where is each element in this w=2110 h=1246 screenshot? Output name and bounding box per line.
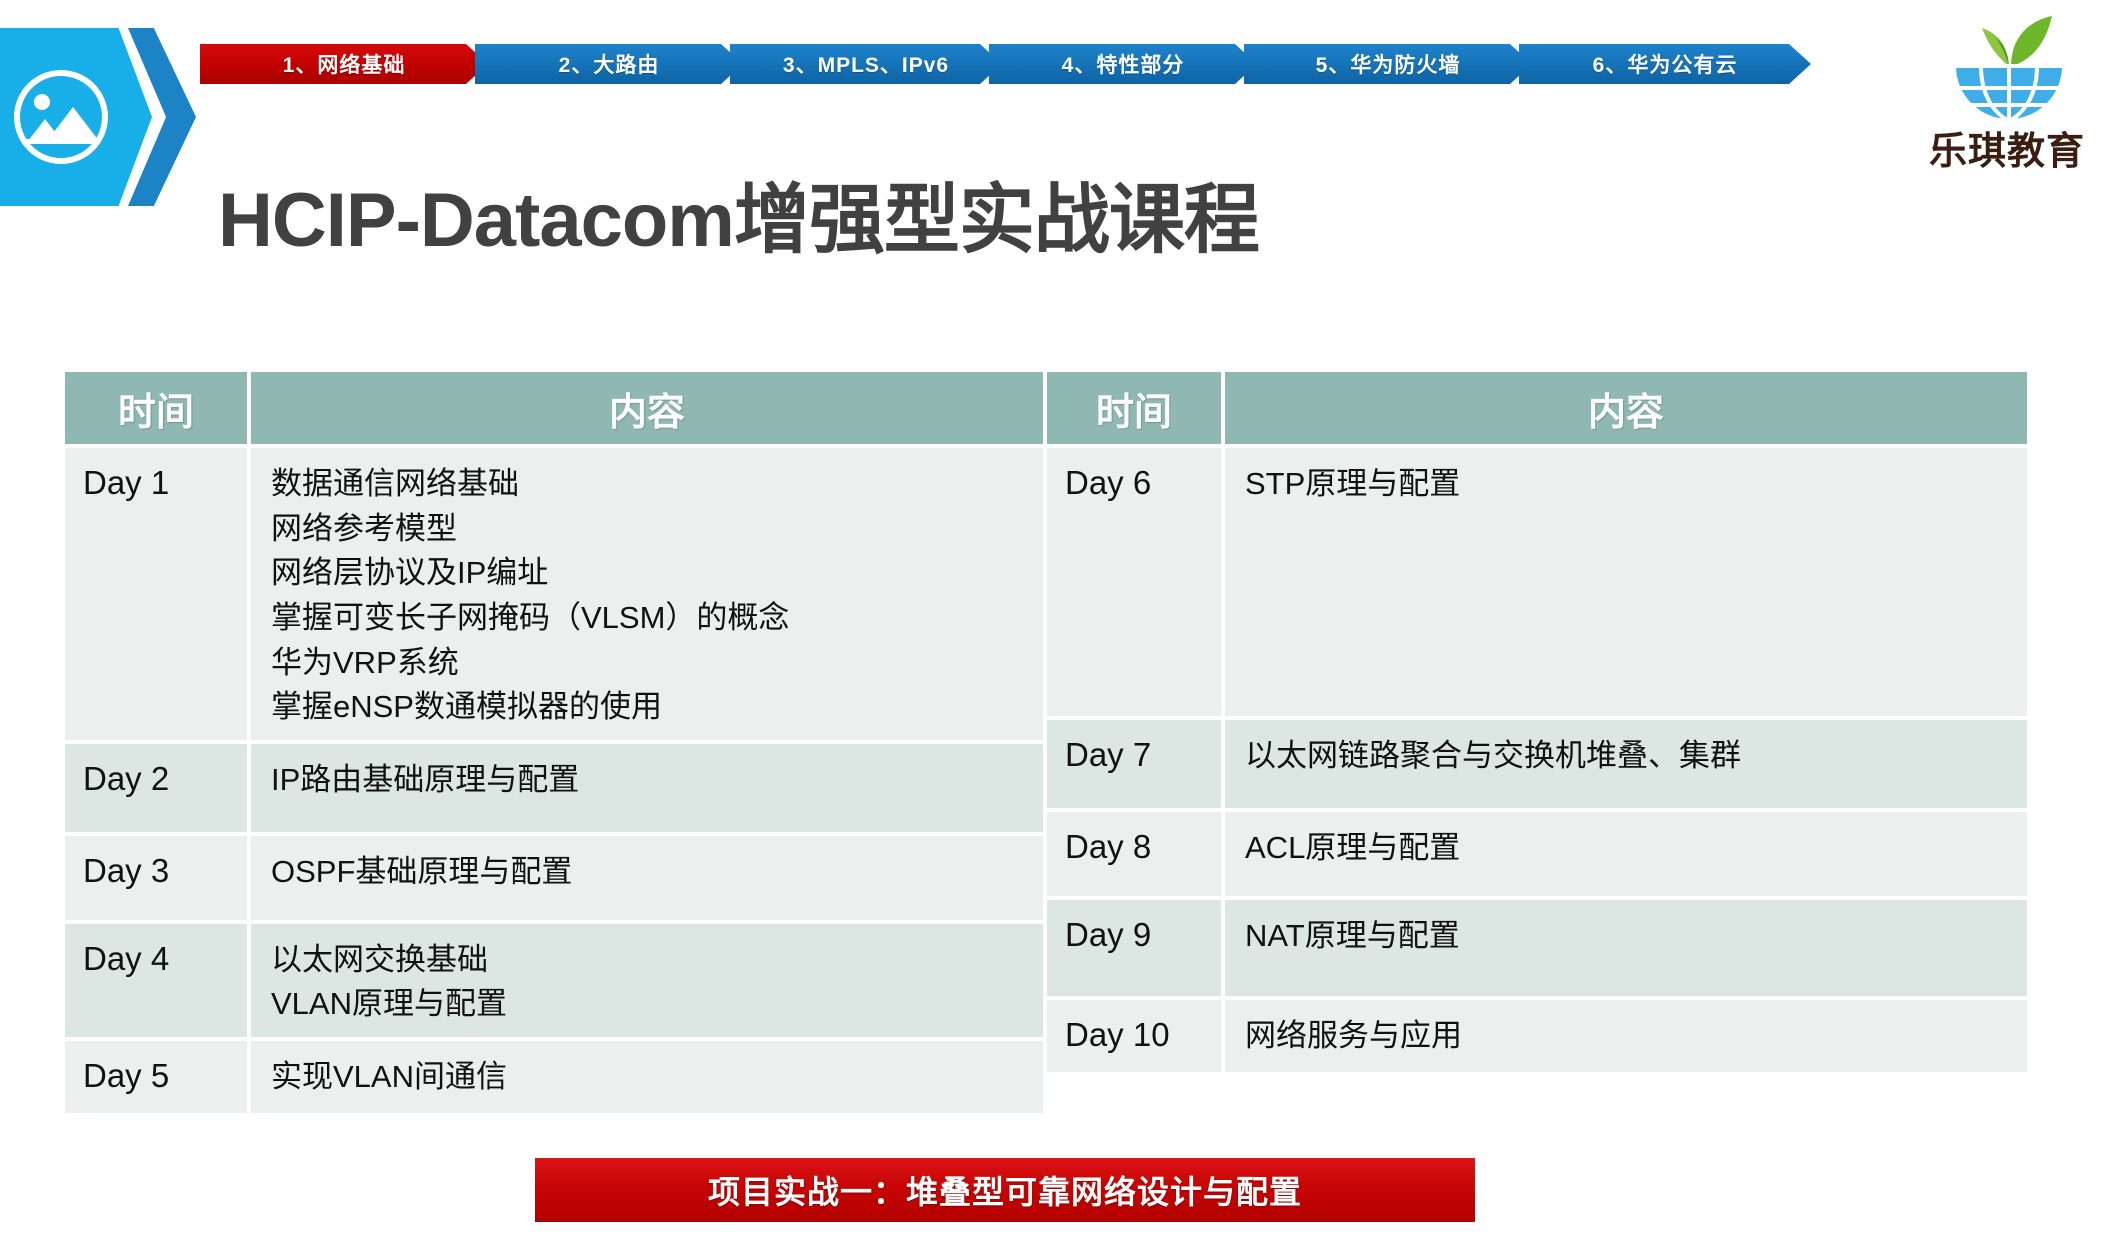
row-time-cell: Day 9 [1047, 900, 1221, 996]
section-nav: 1、网络基础 2、大路由 3、MPLS、IPv6 4、特性部分 5、华为防火墙 … [200, 44, 1811, 84]
row-content-cell: 以太网交换基础 VLAN原理与配置 [251, 924, 1043, 1037]
row-time-cell: Day 1 [65, 448, 247, 740]
table-row: Day 10 网络服务与应用 [1047, 1000, 2027, 1072]
nav-item-3[interactable]: 3、MPLS、IPv6 [730, 44, 1002, 84]
row-content-cell: NAT原理与配置 [1225, 900, 2027, 996]
content-line-list: OSPF基础原理与配置 [271, 850, 572, 895]
page-title: HCIP-Datacom增强型实战课程 [218, 158, 1259, 268]
nav-item-1[interactable]: 1、网络基础 [200, 44, 488, 84]
row-content-cell: OSPF基础原理与配置 [251, 836, 1043, 920]
row-time-cell: Day 4 [65, 924, 247, 1037]
table-row: Day 8 ACL原理与配置 [1047, 812, 2027, 896]
table-row: Day 1 数据通信网络基础 网络参考模型 网络层协议及IP编址 掌握可变长子网… [65, 448, 1043, 740]
day-label: Day 6 [1065, 462, 1151, 503]
row-content-cell: ACL原理与配置 [1225, 812, 2027, 896]
content-line: STP原理与配置 [1245, 462, 1460, 507]
header-content-left: 内容 [251, 372, 1043, 444]
row-time-cell: Day 7 [1047, 720, 1221, 808]
content-line: IP路由基础原理与配置 [271, 758, 579, 803]
header-time-right: 时间 [1047, 372, 1221, 444]
row-time-cell: Day 3 [65, 836, 247, 920]
content-line-list: IP路由基础原理与配置 [271, 758, 579, 803]
nav-item-4[interactable]: 4、特性部分 [989, 44, 1257, 84]
row-content-cell: 以太网链路聚合与交换机堆叠、集群 [1225, 720, 2027, 808]
day-label: Day 4 [83, 938, 169, 979]
nav-item-6[interactable]: 6、华为公有云 [1519, 44, 1811, 84]
content-line: 以太网交换基础 [271, 938, 507, 983]
nav-item-5[interactable]: 5、华为防火墙 [1244, 44, 1532, 84]
hex-badge [0, 28, 196, 206]
table-row: Day 9 NAT原理与配置 [1047, 900, 2027, 996]
content-line: 数据通信网络基础 [271, 462, 789, 507]
table-header-row-right: 时间 内容 [1047, 372, 2027, 444]
row-content-cell: 实现VLAN间通信 [251, 1041, 1043, 1113]
slide-root: 1、网络基础 2、大路由 3、MPLS、IPv6 4、特性部分 5、华为防火墙 … [0, 0, 2110, 1246]
content-line: 实现VLAN间通信 [271, 1055, 507, 1100]
day-label: Day 7 [1065, 734, 1151, 775]
row-time-cell: Day 8 [1047, 812, 1221, 896]
content-line: 以太网链路聚合与交换机堆叠、集群 [1245, 734, 1741, 779]
row-content-cell: 数据通信网络基础 网络参考模型 网络层协议及IP编址 掌握可变长子网掩码（VLS… [251, 448, 1043, 740]
row-time-cell: Day 6 [1047, 448, 1221, 716]
content-line: NAT原理与配置 [1245, 914, 1460, 959]
content-line: 华为VRP系统 [271, 641, 789, 686]
table-header-row-left: 时间 内容 [65, 372, 1043, 444]
table-row: Day 4 以太网交换基础 VLAN原理与配置 [65, 924, 1043, 1037]
table-row: Day 7 以太网链路聚合与交换机堆叠、集群 [1047, 720, 2027, 808]
content-line: OSPF基础原理与配置 [271, 850, 572, 895]
row-time-cell: Day 2 [65, 744, 247, 832]
picture-mountain-small [28, 119, 62, 141]
row-time-cell: Day 10 [1047, 1000, 1221, 1072]
project-banner: 项目实战一：堆叠型可靠网络设计与配置 [535, 1158, 1475, 1222]
content-line-list: 以太网交换基础 VLAN原理与配置 [271, 938, 507, 1027]
content-line-list: 以太网链路聚合与交换机堆叠、集群 [1245, 734, 1741, 779]
content-line: 网络参考模型 [271, 507, 789, 552]
content-line-list: 实现VLAN间通信 [271, 1055, 507, 1100]
schedule-table-right: 时间 内容 Day 6 STP原理与配置 Day 7 以太网链路聚合与交换机堆叠… [1047, 372, 2027, 1072]
table-row: Day 5 实现VLAN间通信 [65, 1041, 1043, 1113]
day-label: Day 10 [1065, 1014, 1170, 1055]
day-label: Day 1 [83, 462, 169, 503]
content-line-list: 数据通信网络基础 网络参考模型 网络层协议及IP编址 掌握可变长子网掩码（VLS… [271, 462, 789, 730]
row-content-cell: IP路由基础原理与配置 [251, 744, 1043, 832]
content-line-list: STP原理与配置 [1245, 462, 1460, 507]
content-line-list: 网络服务与应用 [1245, 1014, 1462, 1059]
header-content-right: 内容 [1225, 372, 2027, 444]
content-line: ACL原理与配置 [1245, 826, 1460, 871]
content-line: VLAN原理与配置 [271, 982, 507, 1027]
brand-logo: 乐琪教育 [1912, 8, 2102, 176]
row-content-cell: 网络服务与应用 [1225, 1000, 2027, 1072]
brand-name: 乐琪教育 [1912, 120, 2102, 175]
content-line: 网络服务与应用 [1245, 1014, 1462, 1059]
picture-ground-line [26, 139, 96, 144]
day-label: Day 9 [1065, 914, 1151, 955]
day-label: Day 2 [83, 758, 169, 799]
day-label: Day 5 [83, 1055, 169, 1096]
table-row: Day 2 IP路由基础原理与配置 [65, 744, 1043, 832]
content-line-list: ACL原理与配置 [1245, 826, 1460, 871]
day-label: Day 3 [83, 850, 169, 891]
row-time-cell: Day 5 [65, 1041, 247, 1113]
content-line: 网络层协议及IP编址 [271, 551, 789, 596]
image-picture-icon [14, 70, 108, 164]
day-label: Day 8 [1065, 826, 1151, 867]
nav-item-2[interactable]: 2、大路由 [475, 44, 743, 84]
table-row: Day 6 STP原理与配置 [1047, 448, 2027, 716]
table-row: Day 3 OSPF基础原理与配置 [65, 836, 1043, 920]
content-line-list: NAT原理与配置 [1245, 914, 1460, 959]
logo-sprout-globe-icon [1912, 8, 2102, 128]
content-line: 掌握可变长子网掩码（VLSM）的概念 [271, 596, 789, 641]
schedule-table-left: 时间 内容 Day 1 数据通信网络基础 网络参考模型 网络层协议及IP编址 掌… [65, 372, 1043, 1113]
row-content-cell: STP原理与配置 [1225, 448, 2027, 716]
header-time-left: 时间 [65, 372, 247, 444]
content-line: 掌握eNSP数通模拟器的使用 [271, 685, 789, 730]
